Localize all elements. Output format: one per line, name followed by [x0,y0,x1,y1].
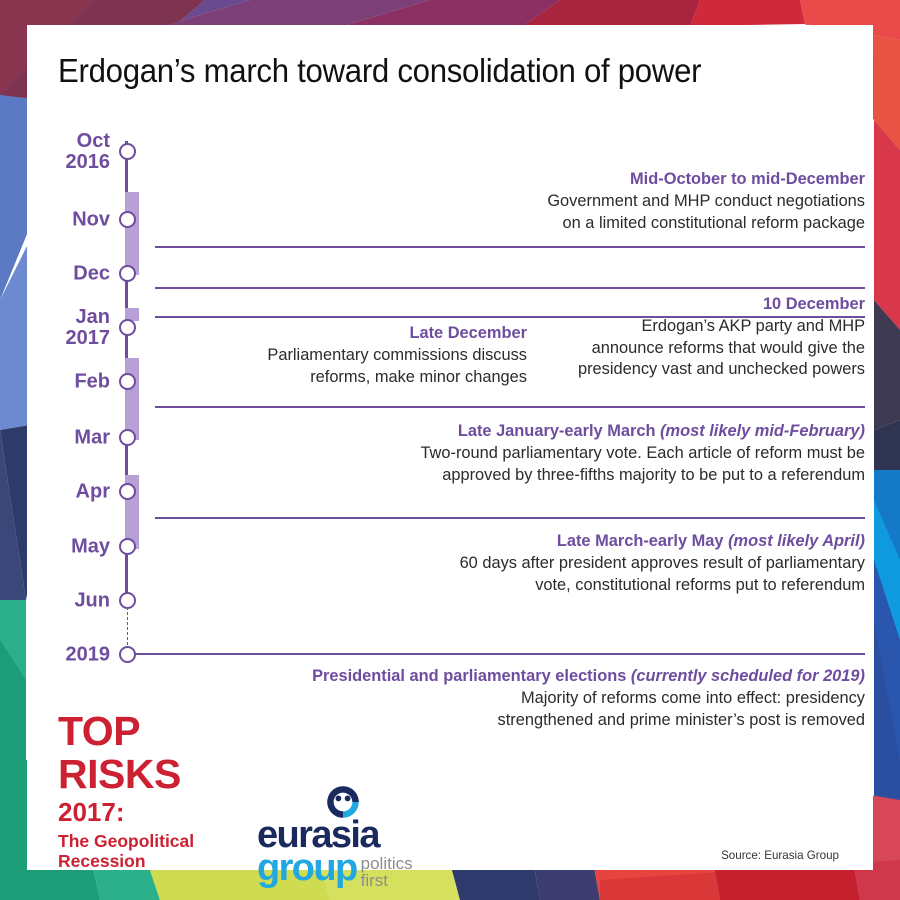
timeline-node-label: Oct2016 [66,131,111,173]
section-divider [155,406,865,408]
timeline-node-label: Mar [74,427,110,448]
timeline-node-feb-2017[interactable]: Feb [119,373,136,390]
timeline-node-label: 2019 [66,644,111,665]
source-attribution: Source: Eurasia Group [721,849,839,862]
timeline-span-bar [125,192,139,275]
top-risks-line1: TOP [58,711,194,752]
event-body: Erdogan’s AKP party and MHP announce ref… [487,316,865,381]
timeline-node-dec-2016[interactable]: Dec [119,265,136,282]
event-body: Government and MHP conduct negotiations … [447,191,865,234]
timeline-node-label: Feb [74,371,110,392]
event-late-january-early-march: Late January-early March (most likely mi… [357,421,865,486]
event-heading: 10 December [487,294,865,315]
event-late-march-early-may: Late March-early May (most likely April)… [357,531,865,596]
eurasia-group-wordmark: eurasia group politics first [257,819,413,890]
event-heading: Late December [207,323,527,344]
timeline-span-bar [125,358,139,440]
timeline-node-oct-2016[interactable]: Oct2016 [119,143,136,160]
timeline-node-label: Nov [72,209,110,230]
event-mid-october-to-mid-december: Mid-October to mid-December Government a… [447,169,865,234]
event-heading: Presidential and parliamentary elections… [267,666,865,687]
section-divider [135,653,865,655]
event-body: Two-round parliamentary vote. Each artic… [357,443,865,486]
timeline-node-label: May [71,536,110,557]
group-word: group [257,852,357,885]
section-divider [155,287,865,289]
top-risks-logo: TOP RISKS 2017: The Geopolitical Recessi… [58,711,194,871]
infographic-card: Erdogan’s march toward consolidation of … [27,25,873,870]
timeline-node-label: Jan2017 [66,307,111,349]
timeline-node-mar-2017[interactable]: Mar [119,429,136,446]
timeline-node-may-2017[interactable]: May [119,538,136,555]
section-divider [155,517,865,519]
event-heading: Mid-October to mid-December [447,169,865,190]
event-body: 60 days after president approves result … [357,553,865,596]
timeline-dashed-connector [127,607,128,650]
section-divider [155,246,865,248]
event-heading: Late March-early May (most likely April) [357,531,865,552]
event-body: Majority of reforms come into effect: pr… [267,688,865,731]
timeline-node-2019[interactable]: 2019 [119,646,136,663]
timeline-node-label: Jun [74,590,110,611]
timeline-node-label: Dec [73,263,110,284]
page-title: Erdogan’s march toward consolidation of … [58,53,701,91]
event-late-december: Late December Parliamentary commissions … [207,323,527,388]
top-risks-year: 2017: [58,799,194,825]
event-10-december: 10 December Erdogan’s AKP party and MHP … [487,294,865,381]
event-presidential-elections: Presidential and parliamentary elections… [267,666,865,731]
eurasia-group-logo: eurasia group politics first [257,783,427,878]
top-risks-line2: RISKS [58,754,194,795]
eurasia-tagline: politics first [361,855,413,890]
top-risks-subtitle: The Geopolitical Recession [58,831,194,871]
event-body: Parliamentary commissions discuss reform… [207,345,527,388]
timeline-node-label: Apr [76,481,110,502]
event-heading: Late January-early March (most likely mi… [357,421,865,442]
timeline-node-apr-2017[interactable]: Apr [119,483,136,500]
timeline-node-jan-2017[interactable]: Jan2017 [119,319,136,336]
timeline-node-nov-2016[interactable]: Nov [119,211,136,228]
timeline-node-jun-2017[interactable]: Jun [119,592,136,609]
